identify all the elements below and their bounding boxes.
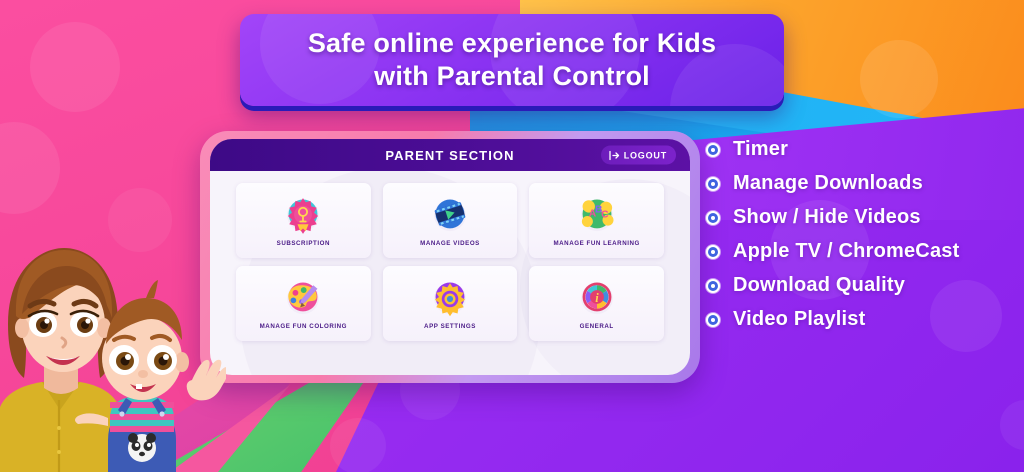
film-strip-play-icon xyxy=(428,194,472,238)
decor-circle xyxy=(30,22,120,112)
decor-circle xyxy=(330,418,386,472)
feature-label: Timer xyxy=(733,138,788,161)
gear-icon xyxy=(428,277,472,321)
feature-list: Timer Manage Downloads Show / Hide Video… xyxy=(706,138,959,331)
decor-circle xyxy=(860,40,938,118)
mother-and-baby-illustration xyxy=(0,232,226,472)
feature-label: Show / Hide Videos xyxy=(733,206,921,229)
phone-screen: PARENT SECTION LOGOUT xyxy=(210,139,690,375)
headline-text: Safe online experience for Kids with Par… xyxy=(308,27,716,93)
page-title: PARENT SECTION xyxy=(385,148,514,163)
target-ring-icon xyxy=(706,313,720,327)
tile-label: SUBSCRIPTION xyxy=(277,240,330,247)
feature-item: Download Quality xyxy=(706,274,959,297)
headline-banner: Safe online experience for Kids with Par… xyxy=(240,14,784,106)
tile-manage-fun-learning[interactable]: A B C MANAGE FUN LEARNING xyxy=(529,183,664,258)
headline-line-2: with Parental Control xyxy=(374,61,650,91)
tile-label: GENERAL xyxy=(580,323,614,330)
promo-graphic: Safe online experience for Kids with Par… xyxy=(0,0,1024,472)
tile-label: MANAGE FUN COLORING xyxy=(260,323,347,330)
logout-arrow-icon xyxy=(608,149,620,161)
app-header: PARENT SECTION LOGOUT xyxy=(210,139,690,171)
feature-label: Apple TV / ChromeCast xyxy=(733,240,959,263)
feature-item: Show / Hide Videos xyxy=(706,206,959,229)
feature-label: Manage Downloads xyxy=(733,172,923,195)
target-ring-icon xyxy=(706,279,720,293)
tile-subscription[interactable]: SUBSCRIPTION xyxy=(236,183,371,258)
tile-general[interactable]: i GENERAL xyxy=(529,266,664,341)
logout-label: LOGOUT xyxy=(624,150,667,160)
abc-blocks-icon: A B C xyxy=(575,194,619,238)
target-ring-icon xyxy=(706,177,720,191)
headline-line-1: Safe online experience for Kids xyxy=(308,28,716,58)
logout-button[interactable]: LOGOUT xyxy=(601,146,676,165)
feature-label: Download Quality xyxy=(733,274,905,297)
feature-item: Video Playlist xyxy=(706,308,959,331)
tile-manage-fun-coloring[interactable]: MANAGE FUN COLORING xyxy=(236,266,371,341)
feature-item: Apple TV / ChromeCast xyxy=(706,240,959,263)
info-wheel-icon: i xyxy=(575,277,619,321)
feature-label: Video Playlist xyxy=(733,308,866,331)
svg-text:i: i xyxy=(595,291,599,305)
tile-app-settings[interactable]: APP SETTINGS xyxy=(383,266,518,341)
tile-manage-videos[interactable]: MANAGE VIDEOS xyxy=(383,183,518,258)
phone-mockup: PARENT SECTION LOGOUT xyxy=(200,131,700,383)
feature-item: Timer xyxy=(706,138,959,161)
feature-item: Manage Downloads xyxy=(706,172,959,195)
target-ring-icon xyxy=(706,211,720,225)
palette-brush-icon xyxy=(281,277,325,321)
tile-label: APP SETTINGS xyxy=(424,323,476,330)
parent-section-tile-grid: SUBSCRIPTION xyxy=(210,171,690,341)
tile-label: MANAGE VIDEOS xyxy=(420,240,480,247)
target-ring-icon xyxy=(706,245,720,259)
svg-text:C: C xyxy=(601,209,609,220)
target-ring-icon xyxy=(706,143,720,157)
subscription-badge-icon xyxy=(281,194,325,238)
tile-label: MANAGE FUN LEARNING xyxy=(553,240,639,247)
